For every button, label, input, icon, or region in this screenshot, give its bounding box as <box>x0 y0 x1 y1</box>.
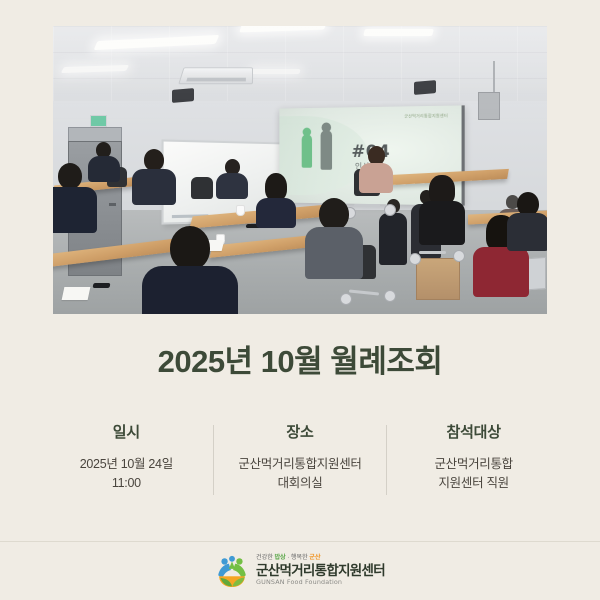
smartphone-icon <box>92 283 110 288</box>
seated-person <box>88 142 120 182</box>
person-body <box>379 213 407 265</box>
logo-tagline: 건강한 밥상 · 행복한 군산 <box>256 555 385 561</box>
person-body <box>507 213 547 251</box>
slide-figure-green-icon <box>302 134 312 167</box>
logo-organization-name: 군산먹거리통합지원센터 <box>256 564 385 578</box>
detail-value-line: 대회의실 <box>220 474 381 493</box>
detail-value-line: 지원센터 직원 <box>393 474 554 493</box>
seated-person <box>419 175 465 245</box>
speaker-icon <box>414 80 436 95</box>
detail-value-line: 11:00 <box>46 474 207 493</box>
person-body <box>473 247 529 297</box>
chair-base <box>419 251 446 254</box>
detail-column-date: 일시 2025년 10월 24일 11:00 <box>40 421 213 494</box>
logo-english-name: GUNSAN Food Foundation <box>256 579 385 585</box>
seated-person <box>507 192 547 251</box>
detail-label: 일시 <box>46 421 207 442</box>
seated-person <box>359 146 393 193</box>
person-body <box>88 156 120 182</box>
podium <box>416 258 460 300</box>
chair-wheel <box>384 204 396 216</box>
seated-person <box>256 173 296 228</box>
organization-logo: 건강한 밥상 · 행복한 군산 군산먹거리통합지원센터 GUNSAN Food … <box>215 554 385 588</box>
detail-value: 군산먹거리통합 지원센터 직원 <box>393 455 554 494</box>
slide-figure-gray-icon <box>321 130 332 169</box>
person-head <box>170 226 210 270</box>
seated-person <box>305 198 363 279</box>
person-body <box>419 201 465 245</box>
footer: 건강한 밥상 · 행복한 군산 군산먹거리통합지원센터 GUNSAN Food … <box>0 541 600 600</box>
person-body <box>216 173 248 199</box>
person-head <box>319 198 349 230</box>
wall-control-box <box>478 92 500 120</box>
person-head <box>58 163 82 189</box>
event-photo: 군산먹거리통합지원센터 #04 인사말씀 <box>53 26 547 314</box>
detail-column-attendees: 참석대상 군산먹거리통합 지원센터 직원 <box>387 421 560 494</box>
exit-sign-icon <box>90 115 107 127</box>
seated-person <box>216 159 248 199</box>
detail-value-line: 2025년 10월 24일 <box>46 455 207 474</box>
slide-logo-text: 군산먹거리통합지원센터 <box>405 112 449 119</box>
page-title: 2025년 10월 월례조회 <box>0 336 600 381</box>
person-body <box>142 266 238 314</box>
person-body <box>305 227 363 279</box>
person-body <box>53 187 97 233</box>
speaker-icon <box>172 88 194 103</box>
person-body <box>359 163 393 193</box>
detail-label: 참석대상 <box>393 421 554 442</box>
person-body <box>132 169 176 205</box>
seated-person <box>142 226 238 314</box>
chair-wheel <box>340 293 352 305</box>
person-body <box>256 198 296 228</box>
person-head <box>265 173 287 201</box>
detail-label: 장소 <box>220 421 381 442</box>
air-conditioner <box>179 68 254 85</box>
event-details: 일시 2025년 10월 24일 11:00 장소 군산먹거리통합지원센터 대회… <box>40 421 560 503</box>
ceiling-light-icon <box>363 29 434 36</box>
chair-wheel <box>409 253 421 265</box>
detail-column-place: 장소 군산먹거리통합지원센터 대회의실 <box>214 421 387 494</box>
detail-value: 2025년 10월 24일 11:00 <box>46 455 207 494</box>
logo-text-block: 건강한 밥상 · 행복한 군산 군산먹거리통합지원센터 GUNSAN Food … <box>256 555 385 585</box>
person-head <box>144 149 164 171</box>
office-chair <box>191 177 213 199</box>
photo-scene: 군산먹거리통합지원센터 #04 인사말씀 <box>53 26 547 314</box>
detail-value-line: 군산먹거리통합지원센터 <box>220 455 381 474</box>
foundation-emblem-icon <box>215 554 249 588</box>
detail-value: 군산먹거리통합지원센터 대회의실 <box>220 455 381 494</box>
seated-person <box>132 149 176 205</box>
ceiling-light-icon <box>250 69 300 74</box>
poster-root: 군산먹거리통합지원센터 #04 인사말씀 <box>0 0 600 600</box>
document-sheet <box>61 287 90 300</box>
paper-cup <box>236 205 245 216</box>
detail-value-line: 군산먹거리통합 <box>393 455 554 474</box>
